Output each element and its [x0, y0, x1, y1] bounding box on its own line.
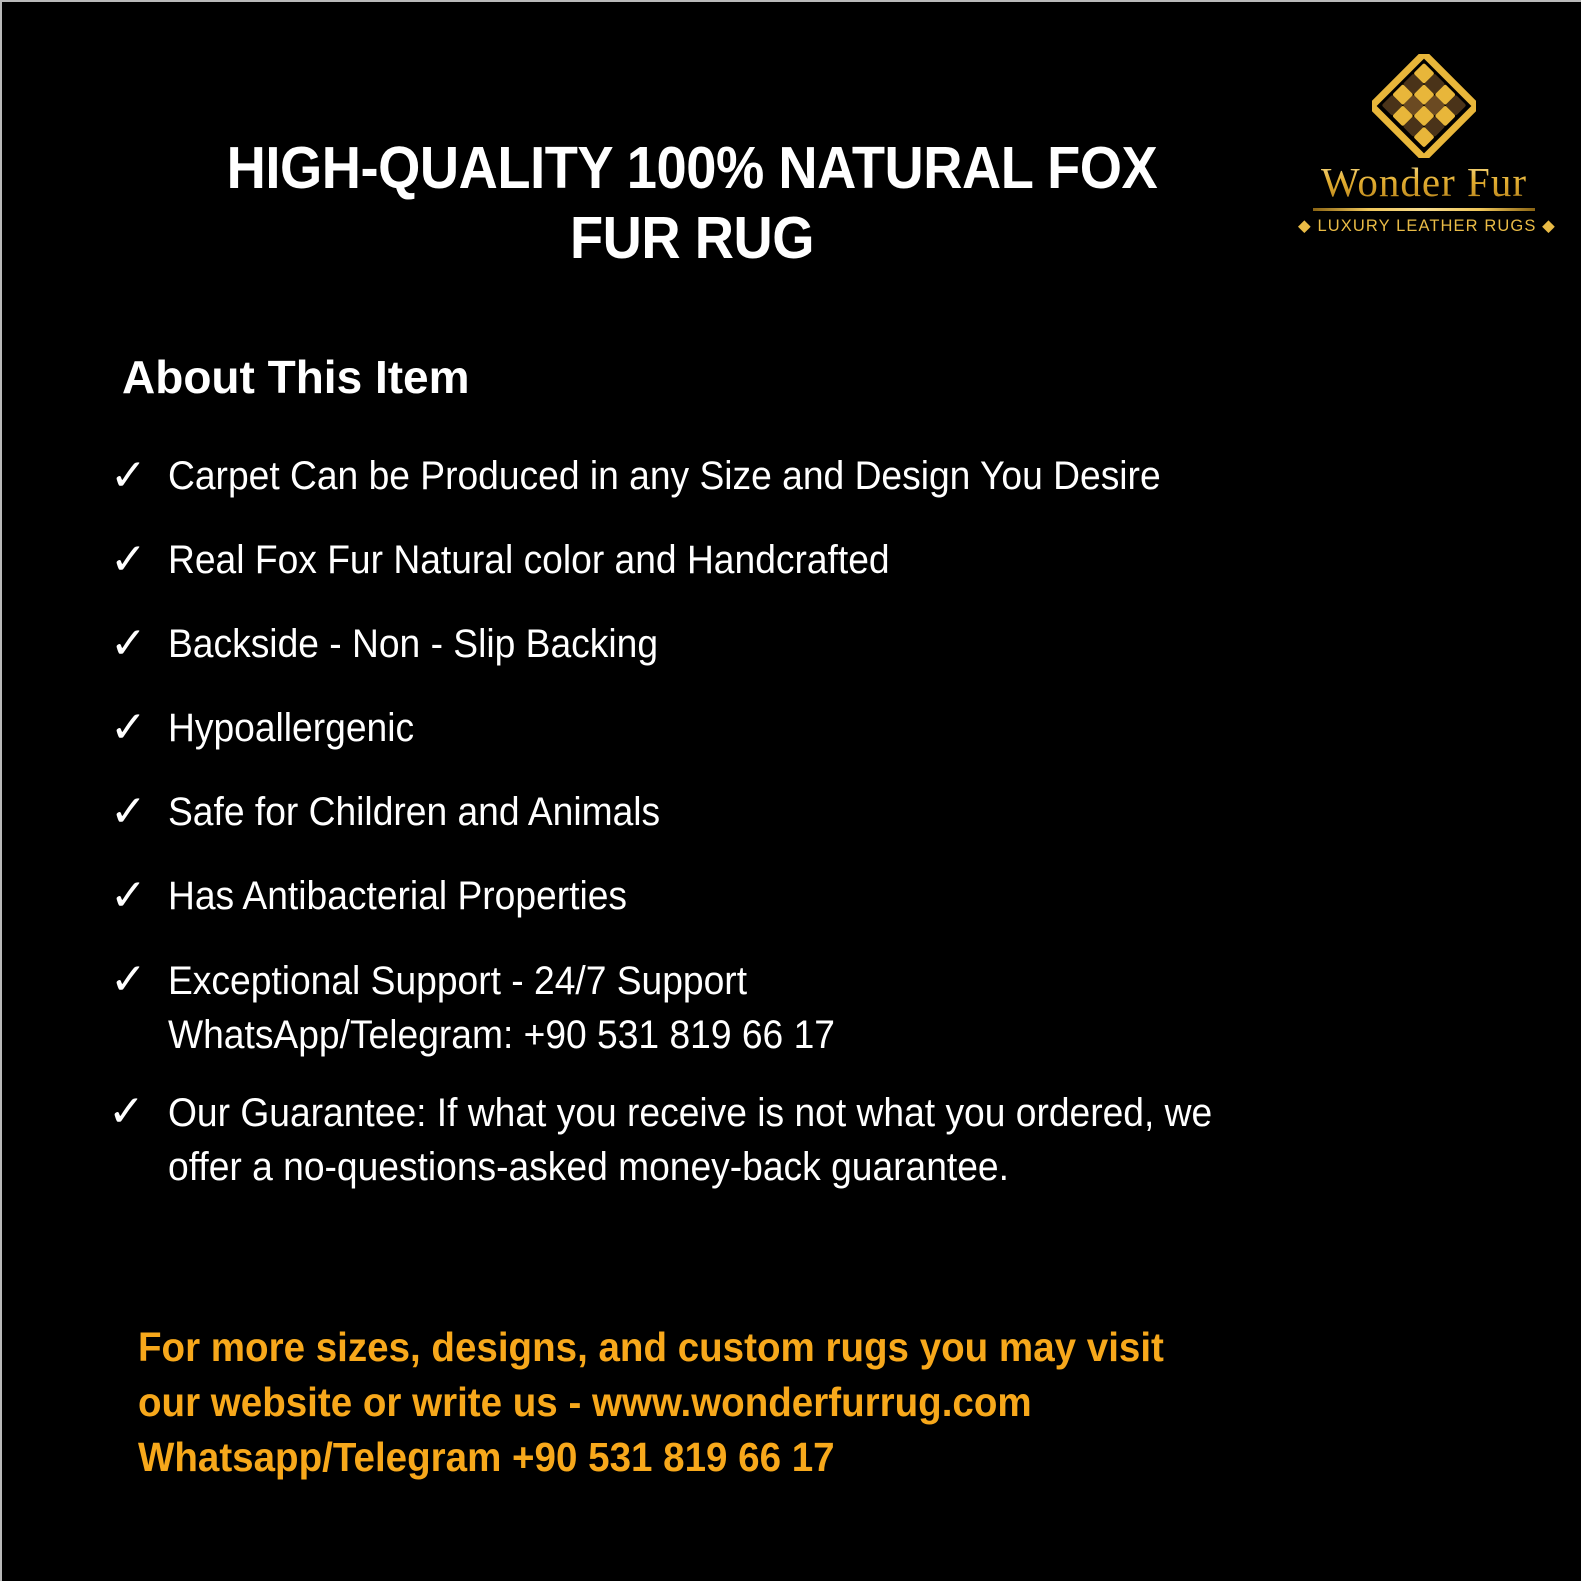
list-item: ✓ Hypoallergenic — [106, 702, 1506, 754]
list-item-label: Has Antibacterial Properties — [168, 870, 1412, 922]
feature-list: ✓ Carpet Can be Produced in any Size and… — [106, 450, 1506, 1226]
brand-logo: Wonder Fur ◆ LUXURY LEATHER RUGS ◆ — [1298, 54, 1550, 236]
diamond-checkerboard-logo-icon — [1372, 54, 1476, 158]
brand-tagline: ◆ LUXURY LEATHER RUGS ◆ — [1298, 216, 1550, 236]
checkmark-icon: ✓ — [106, 702, 168, 754]
checkmark-icon: ✓ — [106, 870, 168, 922]
checkmark-icon: ✓ — [106, 534, 168, 586]
list-item-guarantee: ✓ Our Guarantee: If what you receive is … — [106, 1086, 1506, 1194]
list-item-label: Exceptional Support - 24/7 Support Whats… — [168, 954, 1412, 1062]
list-item: ✓ Has Antibacterial Properties — [106, 870, 1506, 922]
list-item-label: Hypoallergenic — [168, 702, 1412, 754]
list-item-label: Real Fox Fur Natural color and Handcraft… — [168, 534, 1412, 586]
list-item: ✓ Real Fox Fur Natural color and Handcra… — [106, 534, 1506, 586]
checkmark-icon: ✓ — [106, 954, 168, 1006]
checkmark-icon: ✓ — [106, 786, 168, 838]
list-item-label: Safe for Children and Animals — [168, 786, 1412, 838]
product-info-poster: Wonder Fur ◆ LUXURY LEATHER RUGS ◆ HIGH-… — [0, 0, 1581, 1581]
list-item: ✓ Safe for Children and Animals — [106, 786, 1506, 838]
page-title: HIGH-QUALITY 100% NATURAL FOX FUR RUG — [168, 133, 1217, 273]
list-item-label: Backside - Non - Slip Backing — [168, 618, 1412, 670]
list-item: ✓ Backside - Non - Slip Backing — [106, 618, 1506, 670]
list-item: ✓ Carpet Can be Produced in any Size and… — [106, 450, 1506, 502]
contact-footer: For more sizes, designs, and custom rugs… — [138, 1320, 1164, 1485]
checkmark-icon: ✓ — [106, 450, 168, 502]
section-heading: About This Item — [122, 350, 470, 404]
logo-divider — [1313, 208, 1535, 211]
checkmark-icon: ✓ — [106, 618, 168, 670]
checkmark-icon: ✓ — [106, 1086, 168, 1138]
list-item-label: Our Guarantee: If what you receive is no… — [168, 1086, 1412, 1194]
list-item-label: Carpet Can be Produced in any Size and D… — [168, 450, 1412, 502]
brand-wordmark: Wonder Fur — [1298, 162, 1550, 204]
list-item-support: ✓ Exceptional Support - 24/7 Support Wha… — [106, 954, 1506, 1062]
